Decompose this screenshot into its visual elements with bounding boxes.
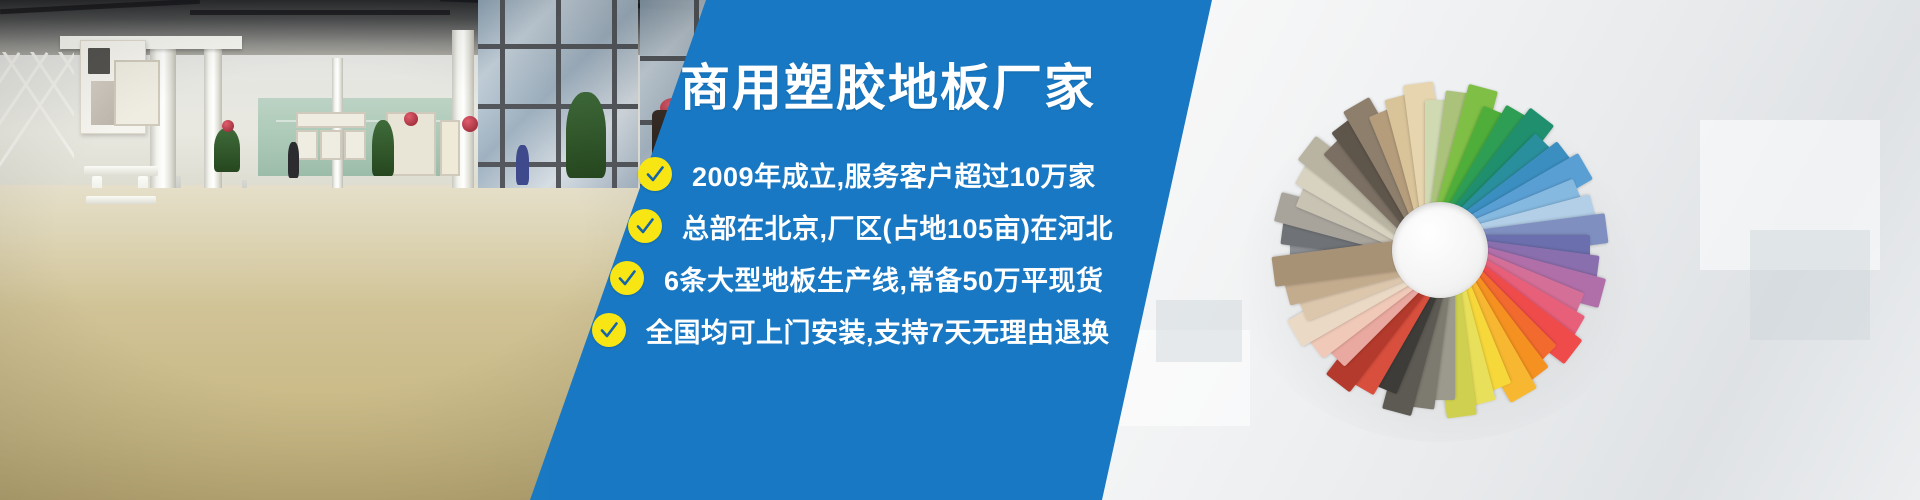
check-circle-icon [638,157,672,191]
list-item-label: 2009年成立,服务客户超过10万家 [692,155,1096,194]
list-item-label: 总部在北京,厂区(占地105亩)在河北 [682,207,1113,246]
list-item: 总部在北京,厂区(占地105亩)在河北 [560,200,1260,252]
check-circle-icon [628,209,662,243]
list-item: 2009年成立,服务客户超过10万家 [560,148,1260,200]
check-circle-icon [592,313,626,347]
promo-banner: 商用塑胶地板厂家 2009年成立,服务客户超过10万家 总部在北京,厂区(占地1… [0,0,1920,500]
list-item: 全国均可上门安装,支持7天无理由退换 [560,304,1260,356]
list-item-label: 全国均可上门安装,支持7天无理由退换 [646,311,1110,350]
list-item-label: 6条大型地板生产线,常备50万平现货 [664,259,1104,298]
feature-list: 2009年成立,服务客户超过10万家 总部在北京,厂区(占地105亩)在河北 6… [560,148,1260,356]
banner-content: 商用塑胶地板厂家 2009年成立,服务客户超过10万家 总部在北京,厂区(占地1… [0,0,1920,500]
banner-title: 商用塑胶地板厂家 [680,63,1200,113]
check-circle-icon [610,261,644,295]
list-item: 6条大型地板生产线,常备50万平现货 [560,252,1260,304]
